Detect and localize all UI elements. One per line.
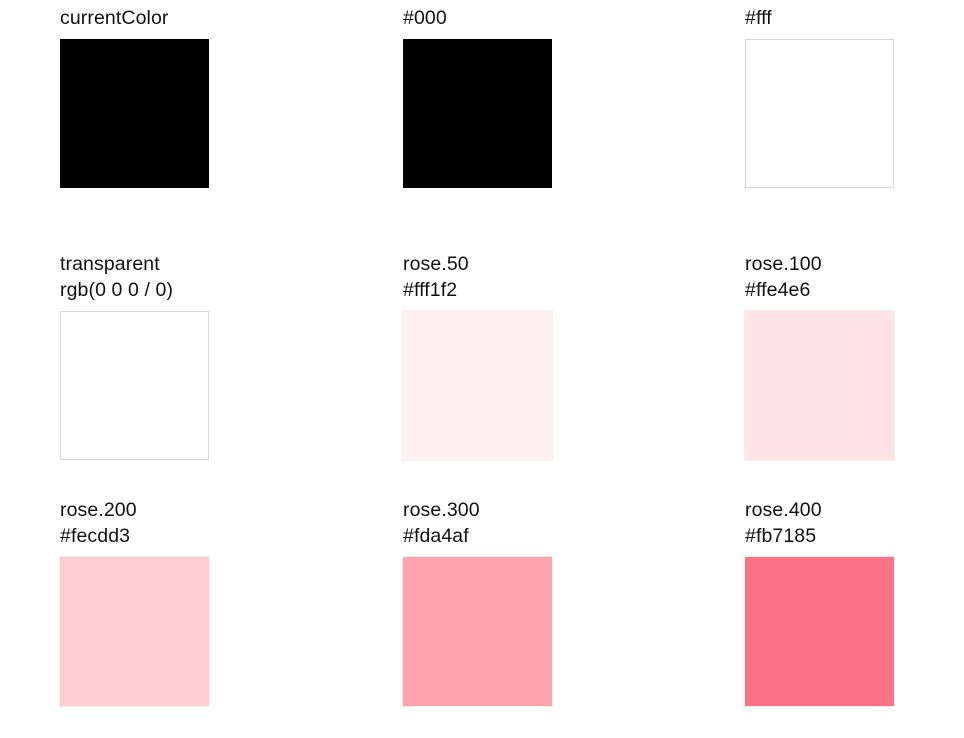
swatch-cell-rose.100: rose.100#ffe4e6	[745, 246, 964, 492]
swatch-chip-black[interactable]	[403, 39, 552, 188]
swatch-chip-rose.50[interactable]	[403, 311, 552, 460]
swatch-chip-rose.100[interactable]	[745, 311, 894, 460]
swatch-chip-white[interactable]	[745, 39, 894, 188]
swatch-name-label: #000	[403, 6, 745, 31]
swatch-label-group: rose.300#fda4af	[403, 492, 745, 549]
swatch-label-group: #000	[403, 0, 745, 31]
swatch-cell-rose.400: rose.400#fb7185	[745, 492, 964, 738]
swatch-label-group: rose.100#ffe4e6	[745, 246, 964, 303]
swatch-label-group: #fff	[745, 0, 964, 31]
swatch-chip-currentColor[interactable]	[60, 39, 209, 188]
swatch-label-group: currentColor	[60, 0, 403, 31]
swatch-label-group: rose.50#fff1f2	[403, 246, 745, 303]
swatch-label-group: rose.400#fb7185	[745, 492, 964, 549]
color-swatch-grid: currentColor#000#ffftransparentrgb(0 0 0…	[0, 0, 964, 738]
swatch-chip-transparent[interactable]	[60, 311, 209, 460]
swatch-label-group: rose.200#fecdd3	[60, 492, 403, 549]
swatch-cell-currentColor: currentColor	[60, 0, 403, 246]
swatch-name-label: rose.100	[745, 252, 964, 277]
swatch-label-group: transparentrgb(0 0 0 / 0)	[60, 246, 403, 303]
swatch-name-label: #fff	[745, 6, 964, 31]
swatch-name-label: rose.300	[403, 498, 745, 523]
swatch-cell-rose.200: rose.200#fecdd3	[60, 492, 403, 738]
swatch-chip-rose.200[interactable]	[60, 557, 209, 706]
swatch-name-label: rose.400	[745, 498, 964, 523]
swatch-name-label: rose.50	[403, 252, 745, 277]
swatch-chip-rose.400[interactable]	[745, 557, 894, 706]
swatch-cell-rose.50: rose.50#fff1f2	[403, 246, 745, 492]
swatch-value-label: #ffe4e6	[745, 278, 964, 303]
swatch-value-label: rgb(0 0 0 / 0)	[60, 278, 403, 303]
swatch-name-label: currentColor	[60, 6, 403, 31]
swatch-value-label: #fecdd3	[60, 524, 403, 549]
swatch-value-label: #fda4af	[403, 524, 745, 549]
swatch-cell-white: #fff	[745, 0, 964, 246]
swatch-value-label: #fb7185	[745, 524, 964, 549]
swatch-name-label: transparent	[60, 252, 403, 277]
swatch-cell-transparent: transparentrgb(0 0 0 / 0)	[60, 246, 403, 492]
swatch-chip-rose.300[interactable]	[403, 557, 552, 706]
swatch-name-label: rose.200	[60, 498, 403, 523]
swatch-value-label: #fff1f2	[403, 278, 745, 303]
swatch-cell-rose.300: rose.300#fda4af	[403, 492, 745, 738]
swatch-cell-black: #000	[403, 0, 745, 246]
